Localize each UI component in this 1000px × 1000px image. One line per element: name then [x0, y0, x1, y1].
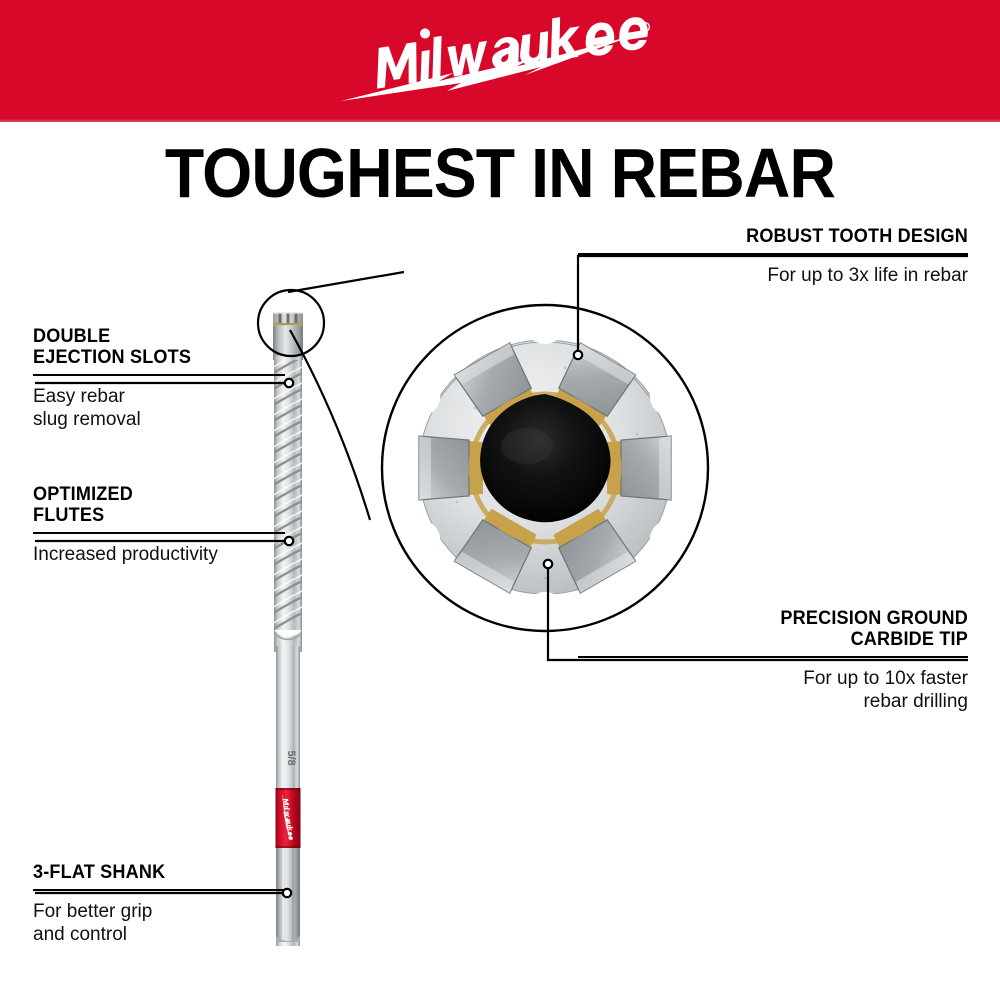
milwaukee-shaft-band [276, 788, 301, 848]
callout-body: For up to 10x faster rebar drilling [578, 667, 968, 713]
callout-body: Easy rebar slug removal [33, 385, 285, 431]
callout-body: Increased productivity [33, 543, 285, 566]
brand-header-band: R [0, 0, 1000, 122]
callout-precision-ground-carbide-tip: PRECISION GROUND CARBIDE TIP For up to 1… [578, 608, 968, 713]
page-title: TOUGHEST IN REBAR [40, 138, 960, 208]
header-bottom-edge [0, 118, 1000, 122]
callout-heading: OPTIMIZED FLUTES [33, 484, 272, 526]
callout-rule [33, 374, 285, 376]
callout-rule [578, 253, 968, 255]
callout-robust-tooth-design: ROBUST TOOTH DESIGN For up to 3x life in… [578, 226, 968, 287]
milwaukee-logo-icon: R [335, 13, 665, 109]
svg-text:5/8: 5/8 [285, 750, 297, 765]
callout-rule [578, 656, 968, 658]
callout-body: For better grip and control [33, 900, 285, 946]
callout-heading: PRECISION GROUND CARBIDE TIP [598, 608, 969, 650]
callout-double-ejection-slots: DOUBLE EJECTION SLOTS Easy rebar slug re… [33, 326, 285, 431]
infographic-page: R TOUGHEST IN REBAR [0, 0, 1000, 1000]
svg-text:R: R [643, 26, 648, 32]
callout-rule [33, 532, 285, 534]
callout-rule [33, 889, 285, 891]
shaft-size-marking: 5/8 [285, 750, 297, 765]
callout-three-flat-shank: 3-FLAT SHANK For better grip and control [33, 862, 285, 946]
callout-heading: ROBUST TOOTH DESIGN [598, 226, 969, 247]
callout-heading: DOUBLE EJECTION SLOTS [33, 326, 272, 368]
callout-optimized-flutes: OPTIMIZED FLUTES Increased productivity [33, 484, 285, 566]
callout-body: For up to 3x life in rebar [578, 264, 968, 287]
callout-heading: 3-FLAT SHANK [33, 862, 272, 883]
